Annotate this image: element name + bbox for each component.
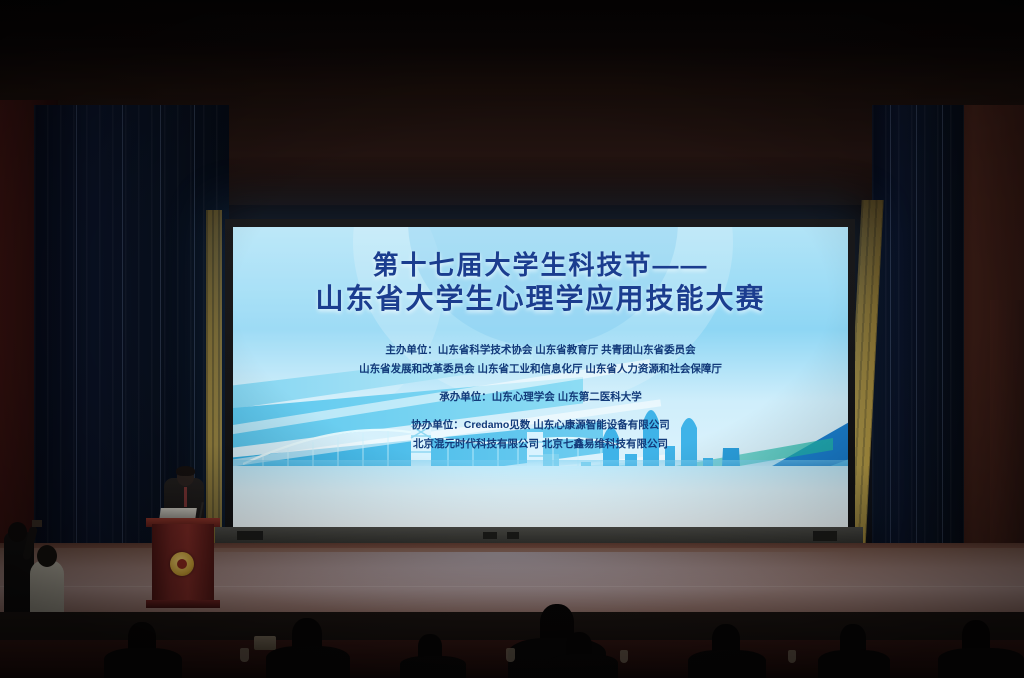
audience-shoulders (400, 656, 466, 678)
audience-phone-screen (254, 636, 276, 650)
foreground-person-filming-head (8, 522, 27, 542)
stage-floor-light-glow (150, 552, 850, 616)
audience-shoulders (688, 650, 766, 678)
slide-info-line-organizer-2: 山东省发展和改革委员会 山东省工业和信息化厅 山东省人力资源和社会保障厅 (233, 360, 848, 379)
audience-cup (506, 648, 515, 662)
slide-title: 第十七届大学生科技节—— 山东省大学生心理学应用技能大赛 (233, 249, 848, 317)
audience-shoulders (938, 648, 1024, 678)
slide-info-line-cohost-1: 协办单位：Credamo见数 山东心康源智能设备有限公司 (233, 416, 848, 435)
podium-emblem-icon (170, 552, 194, 576)
slide-title-line-1: 第十七届大学生科技节—— (233, 249, 848, 281)
auditorium-photo: 第十七届大学生科技节—— 山东省大学生心理学应用技能大赛 主办单位：山东省科学技… (0, 0, 1024, 678)
slide-info-line-organizer-1: 主办单位：山东省科学技术协会 山东省教育厅 共青团山东省委员会 (233, 341, 848, 360)
audience-shoulders (266, 646, 350, 678)
foreground-person-hoodie-head (37, 545, 57, 567)
audience-cup (620, 650, 628, 663)
speaker-hair (176, 466, 195, 476)
speaker-lanyard (184, 487, 187, 507)
audience-shoulders (818, 650, 890, 678)
slide-text-layer: 第十七届大学生科技节—— 山东省大学生心理学应用技能大赛 主办单位：山东省科学技… (233, 227, 848, 528)
podium-base (146, 600, 220, 608)
presentation-slide: 第十七届大学生科技节—— 山东省大学生心理学应用技能大赛 主办单位：山东省科学技… (233, 227, 848, 528)
foreground-phone-icon (32, 520, 42, 527)
slide-info-line-cohost-2: 北京混元时代科技有限公司 北京七鑫易维科技有限公司 (233, 435, 848, 454)
slide-title-line-2: 山东省大学生心理学应用技能大赛 (233, 281, 848, 317)
audience-shoulders (548, 654, 618, 678)
slide-info-block: 主办单位：山东省科学技术协会 山东省教育厅 共青团山东省委员会 山东省发展和改革… (233, 341, 848, 454)
audience-cup (788, 650, 796, 663)
stage-curtain-right (872, 105, 964, 575)
slide-info-line-host: 承办单位：山东心理学会 山东第二医科大学 (233, 388, 848, 407)
gold-curtain-left (206, 210, 222, 555)
audience-cup (240, 648, 249, 662)
wall-panel-right-inner (990, 300, 1024, 550)
audience-shoulders (104, 648, 182, 678)
